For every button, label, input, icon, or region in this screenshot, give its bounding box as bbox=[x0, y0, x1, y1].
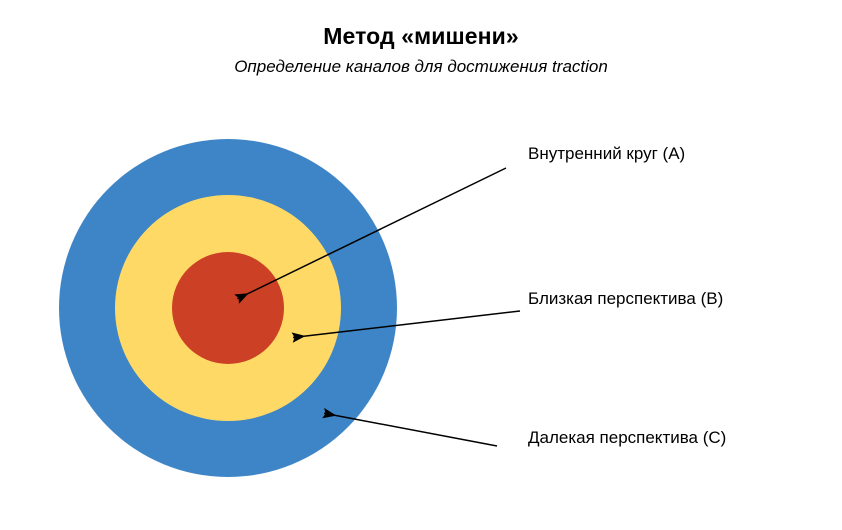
callout-label-far: Далекая перспектива (C) bbox=[528, 428, 726, 448]
target-diagram bbox=[0, 0, 842, 530]
inner-circle-core bbox=[172, 252, 284, 364]
callout-label-inner: Внутренний круг (A) bbox=[528, 144, 685, 164]
leader-arrow-far bbox=[324, 413, 497, 446]
callout-label-near: Близкая перспектива (B) bbox=[528, 289, 723, 309]
slide-canvas: Метод «мишени» Определение каналов для д… bbox=[0, 0, 842, 530]
